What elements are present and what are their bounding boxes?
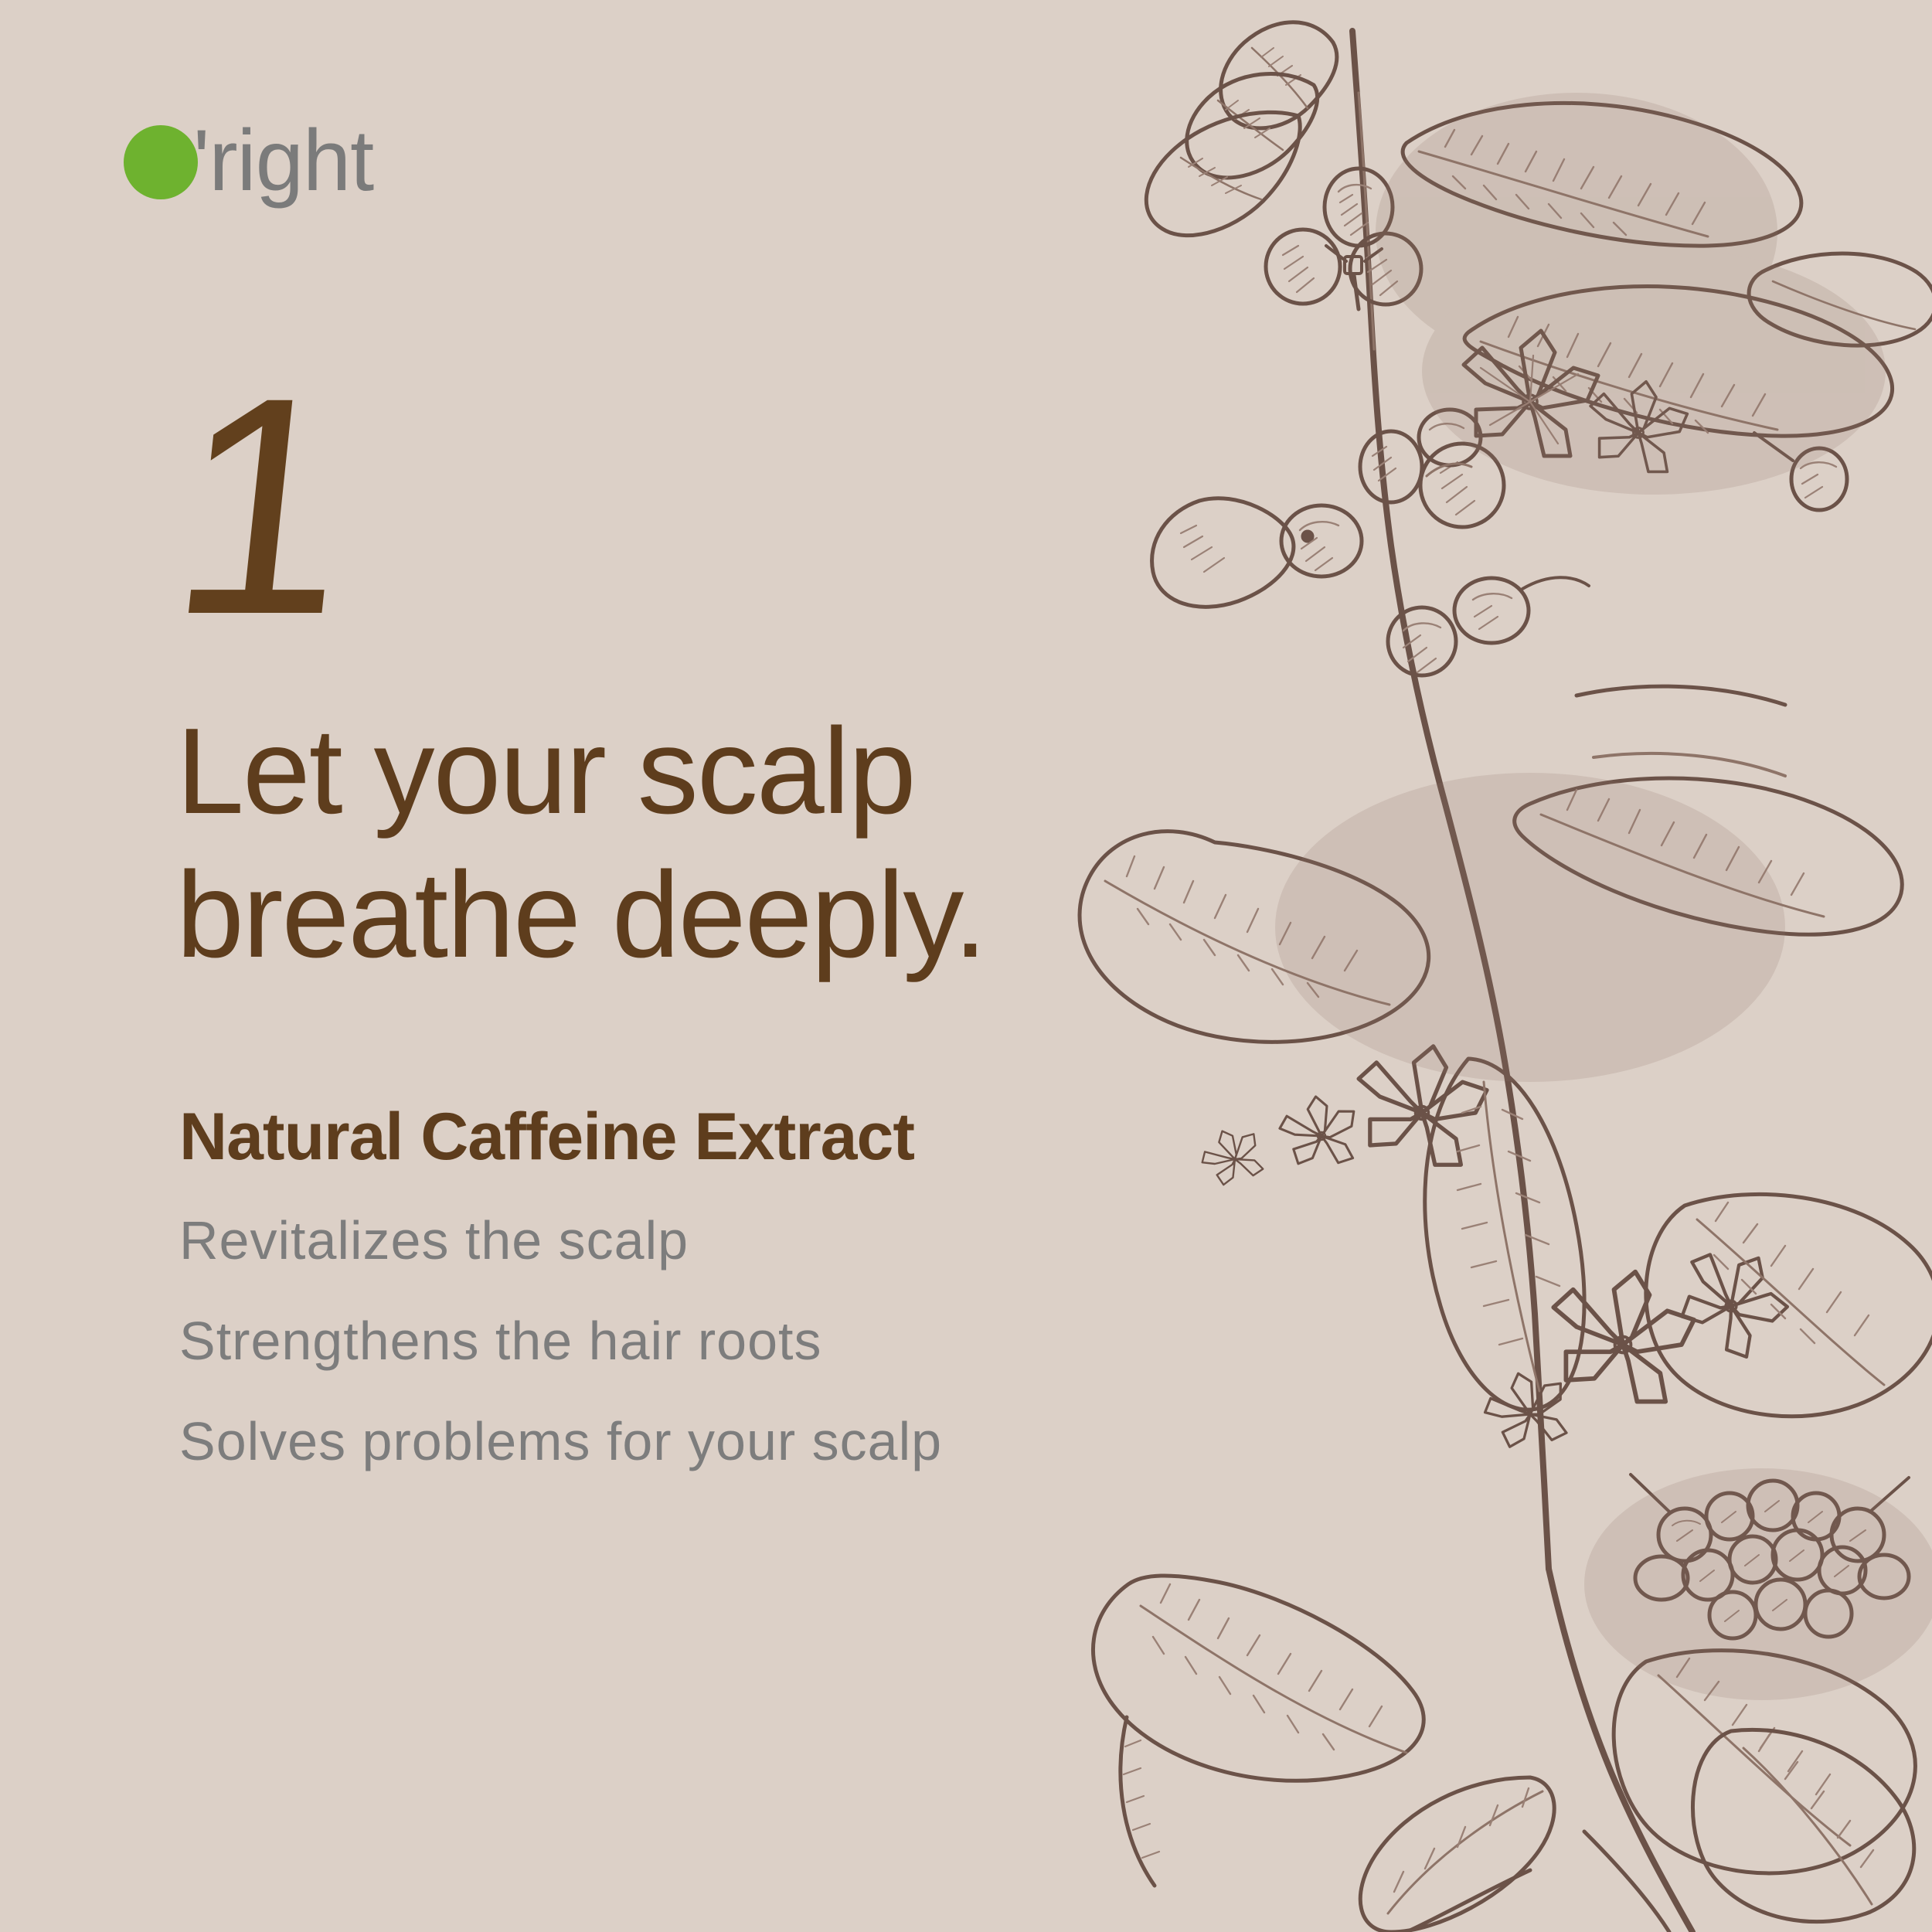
headline-line-1: Let your scalp bbox=[176, 699, 1181, 843]
logo-wordmark: 'right bbox=[193, 117, 373, 204]
logo-circle-icon bbox=[124, 125, 198, 199]
brand-logo[interactable]: 'right bbox=[124, 116, 373, 209]
list-item: Solves problems for your scalp bbox=[179, 1414, 1107, 1468]
promo-poster: 'right 1 Let your scalp breathe deeply. … bbox=[0, 0, 1932, 1932]
list-item: Strengthens the hair roots bbox=[179, 1314, 1107, 1368]
ingredient-subheading: Natural Caffeine Extract bbox=[179, 1099, 914, 1175]
step-number: 1 bbox=[160, 352, 357, 661]
page-title: Let your scalp breathe deeply. bbox=[176, 699, 1181, 988]
list-item: Revitalizes the scalp bbox=[179, 1213, 1107, 1267]
headline-line-2: breathe deeply. bbox=[176, 843, 1181, 987]
benefit-list: Revitalizes the scalp Strengthens the ha… bbox=[179, 1213, 1107, 1515]
